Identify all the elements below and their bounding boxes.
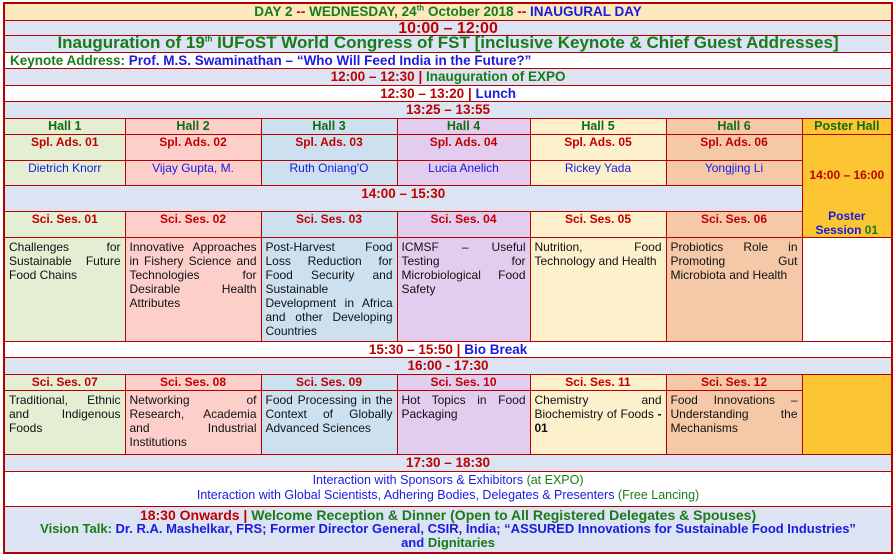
keynote-row: Keynote Address: Prof. M.S. Swaminathan … — [4, 52, 892, 69]
sci-title-12[interactable]: Food Innovations – Understanding the Mec… — [666, 391, 802, 455]
hall-header-poster[interactable]: Poster Hall — [802, 118, 892, 135]
vision-talk-dignitaries: Dignitaries — [428, 535, 495, 550]
lunch-label: Lunch — [475, 86, 516, 101]
expo-bar: | — [415, 69, 426, 84]
day-type: INAUGURAL DAY — [530, 4, 642, 19]
keynote-cell: Keynote Address: Prof. M.S. Swaminathan … — [4, 52, 892, 69]
interaction-time-row: 17:30 – 18:30 — [4, 455, 892, 472]
interaction-line2-note: (Free Lancing) — [618, 488, 699, 502]
spl-code-6[interactable]: Spl. Ads. 06 — [666, 135, 802, 161]
sci-b-time-cell: 16:00 - 17:30 — [4, 358, 892, 375]
keynote-label: Keynote Address: — [10, 53, 125, 68]
sci-a-time-cell: 14:00 – 15:30 — [4, 186, 802, 212]
lunch-cell: 12:30 – 13:20 | Lunch — [4, 85, 892, 102]
bio-break-row: 15:30 – 15:50 | Bio Break — [4, 341, 892, 358]
hall-header-1[interactable]: Hall 1 — [4, 118, 125, 135]
spl-code-4[interactable]: Spl. Ads. 04 — [397, 135, 530, 161]
lunch-row: 12:30 – 13:20 | Lunch — [4, 85, 892, 102]
hall-header-3[interactable]: Hall 3 — [261, 118, 397, 135]
interaction-line2-cell: Interaction with Global Scientists, Adhe… — [4, 488, 892, 506]
poster-time: 14:00 – 16:00 — [803, 169, 892, 183]
spl-code-1[interactable]: Spl. Ads. 01 — [4, 135, 125, 161]
interaction-line1-row: Interaction with Sponsors & Exhibitors (… — [4, 471, 892, 488]
spl-speaker-3[interactable]: Ruth Oniang'O — [261, 160, 397, 186]
hall-header-6[interactable]: Hall 6 — [666, 118, 802, 135]
vision-talk-line2: and Dignitaries — [7, 536, 889, 550]
spl-speaker-6[interactable]: Yongjing Li — [666, 160, 802, 186]
sci-title-09[interactable]: Food Processing in the Context of Global… — [261, 391, 397, 455]
sci-code-02[interactable]: Sci. Ses. 02 — [125, 211, 261, 237]
schedule-table: DAY 2 -- WEDNESDAY, 24th October 2018 --… — [3, 2, 893, 554]
day-banner: DAY 2 -- WEDNESDAY, 24th October 2018 --… — [4, 3, 892, 20]
sci-b-title-row: Traditional, Ethnic and Indigenous Foods… — [4, 391, 892, 455]
sci-a-title-row: Challenges for Sustainable Future Food C… — [4, 237, 892, 341]
sci-code-04[interactable]: Sci. Ses. 04 — [397, 211, 530, 237]
inauguration-title-cell: Inauguration of 19th IUFoST World Congre… — [4, 36, 892, 53]
sci-title-05[interactable]: Nutrition, Food Technology and Health — [530, 237, 666, 341]
sci-a-code-row: Sci. Ses. 01 Sci. Ses. 02 Sci. Ses. 03 S… — [4, 211, 892, 237]
sci-code-09[interactable]: Sci. Ses. 09 — [261, 374, 397, 391]
sci-code-06[interactable]: Sci. Ses. 06 — [666, 211, 802, 237]
bio-break-bar: | — [453, 342, 464, 357]
poster-label-line1: Poster — [828, 209, 865, 223]
sci-code-10[interactable]: Sci. Ses. 10 — [397, 374, 530, 391]
spl-time-row: 13:25 – 13:55 — [4, 102, 892, 119]
expo-label: Inauguration of EXPO — [426, 69, 566, 84]
hall-header-row: Hall 1 Hall 2 Hall 3 Hall 4 Hall 5 Hall … — [4, 118, 892, 135]
inauguration-title-post: IUFoST World Congress of FST [inclusive … — [212, 33, 838, 52]
interaction-line1-note: (at EXPO) — [527, 473, 584, 487]
vision-talk-and: and — [401, 535, 428, 550]
sci-b-time: 16:00 - 17:30 — [408, 358, 489, 373]
day-date: WEDNESDAY, 24 — [309, 4, 417, 19]
sci-b-code-row: Sci. Ses. 07 Sci. Ses. 08 Sci. Ses. 09 S… — [4, 374, 892, 391]
hall-header-5[interactable]: Hall 5 — [530, 118, 666, 135]
sci-title-04[interactable]: ICMSF – Useful Testing for Microbiologic… — [397, 237, 530, 341]
sci-title-11[interactable]: Chemistry and Biochemistry of Foods - 01 — [530, 391, 666, 455]
day-banner-row: DAY 2 -- WEDNESDAY, 24th October 2018 --… — [4, 3, 892, 20]
poster-label-number: 01 — [865, 223, 878, 237]
day-sep-1: -- — [296, 4, 305, 19]
poster-label: Poster Session 01 — [803, 209, 892, 237]
interaction-time: 17:30 – 18:30 — [406, 455, 490, 470]
spl-speaker-5[interactable]: Rickey Yada — [530, 160, 666, 186]
sci-title-10[interactable]: Hot Topics in Food Packaging — [397, 391, 530, 455]
bio-break-label: Bio Break — [464, 342, 527, 357]
sci-code-03[interactable]: Sci. Ses. 03 — [261, 211, 397, 237]
hall-header-2[interactable]: Hall 2 — [125, 118, 261, 135]
vision-talk-line: Vision Talk: Dr. R.A. Mashelkar, FRS; Fo… — [7, 522, 889, 536]
sci-code-05[interactable]: Sci. Ses. 05 — [530, 211, 666, 237]
sci-title-01[interactable]: Challenges for Sustainable Future Food C… — [4, 237, 125, 341]
spl-speaker-1[interactable]: Dietrich Knorr — [4, 160, 125, 186]
sci-a-time-row: 14:00 – 15:30 — [4, 186, 892, 212]
vision-talk-label: Vision Talk: — [40, 521, 112, 536]
spl-code-5[interactable]: Spl. Ads. 05 — [530, 135, 666, 161]
reception-row: 18:30 Onwards | Welcome Reception & Dinn… — [4, 506, 892, 553]
reception-cell: 18:30 Onwards | Welcome Reception & Dinn… — [4, 506, 892, 553]
expo-cell: 12:00 – 12:30 | Inauguration of EXPO — [4, 69, 892, 86]
spl-time: 13:25 – 13:55 — [406, 102, 490, 117]
bio-break-cell: 15:30 – 15:50 | Bio Break — [4, 341, 892, 358]
expo-row: 12:00 – 12:30 | Inauguration of EXPO — [4, 69, 892, 86]
special-address-code-row: Spl. Ads. 01 Spl. Ads. 02 Spl. Ads. 03 S… — [4, 135, 892, 161]
spl-code-3[interactable]: Spl. Ads. 03 — [261, 135, 397, 161]
special-address-speaker-row: Dietrich Knorr Vijay Gupta, M. Ruth Onia… — [4, 160, 892, 186]
interaction-line1-cell: Interaction with Sponsors & Exhibitors (… — [4, 471, 892, 488]
sci-title-03[interactable]: Post-Harvest Food Loss Reduction for Foo… — [261, 237, 397, 341]
sci-title-08[interactable]: Networking of Research, Academia and Ind… — [125, 391, 261, 455]
interaction-time-cell: 17:30 – 18:30 — [4, 455, 892, 472]
poster-label-session: Session — [815, 223, 864, 237]
sci-code-11[interactable]: Sci. Ses. 11 — [530, 374, 666, 391]
inauguration-title-pre: Inauguration of 19 — [57, 33, 204, 52]
expo-time: 12:00 – 12:30 — [331, 69, 415, 84]
sci-title-06[interactable]: Probiotics Role in Promoting Gut Microbi… — [666, 237, 802, 341]
day-sep-2: -- — [517, 4, 526, 19]
spl-code-2[interactable]: Spl. Ads. 02 — [125, 135, 261, 161]
sci-code-08[interactable]: Sci. Ses. 08 — [125, 374, 261, 391]
reception-headline: 18:30 Onwards | Welcome Reception & Dinn… — [7, 509, 889, 523]
spl-speaker-2[interactable]: Vijay Gupta, M. — [125, 160, 261, 186]
poster-spacer-cell — [802, 374, 892, 455]
sci-title-07[interactable]: Traditional, Ethnic and Indigenous Foods — [4, 391, 125, 455]
poster-session-cell[interactable]: 14:00 – 16:00 Poster Session 01 — [802, 135, 892, 238]
hall-header-4[interactable]: Hall 4 — [397, 118, 530, 135]
lunch-bar: | — [464, 86, 475, 101]
spl-time-cell: 13:25 – 13:55 — [4, 102, 892, 119]
lunch-time: 12:30 – 13:20 — [380, 86, 464, 101]
interaction-line2-row: Interaction with Global Scientists, Adhe… — [4, 488, 892, 506]
day-date-rest: October 2018 — [424, 4, 513, 19]
bio-break-time: 15:30 – 15:50 — [369, 342, 453, 357]
sci-code-07[interactable]: Sci. Ses. 07 — [4, 374, 125, 391]
sci-b-time-row: 16:00 - 17:30 — [4, 358, 892, 375]
sci-title-02[interactable]: Innovative Approaches in Fishery Science… — [125, 237, 261, 341]
schedule-page: DAY 2 -- WEDNESDAY, 24th October 2018 --… — [0, 0, 894, 527]
interaction-line2-text: Interaction with Global Scientists, Adhe… — [197, 488, 618, 502]
sci-title-11-text: Chemistry and Biochemistry of Foods — [535, 393, 662, 421]
sci-a-time: 14:00 – 15:30 — [361, 186, 445, 201]
keynote-speaker: Prof. M.S. Swaminathan – “Who Will Feed … — [125, 53, 531, 68]
interaction-line1-text: Interaction with Sponsors & Exhibitors — [313, 473, 527, 487]
inauguration-title-row: Inauguration of 19th IUFoST World Congre… — [4, 36, 892, 53]
sci-code-12[interactable]: Sci. Ses. 12 — [666, 374, 802, 391]
spl-speaker-4[interactable]: Lucia Anelich — [397, 160, 530, 186]
day-label: DAY 2 — [254, 4, 292, 19]
sci-code-01[interactable]: Sci. Ses. 01 — [4, 211, 125, 237]
